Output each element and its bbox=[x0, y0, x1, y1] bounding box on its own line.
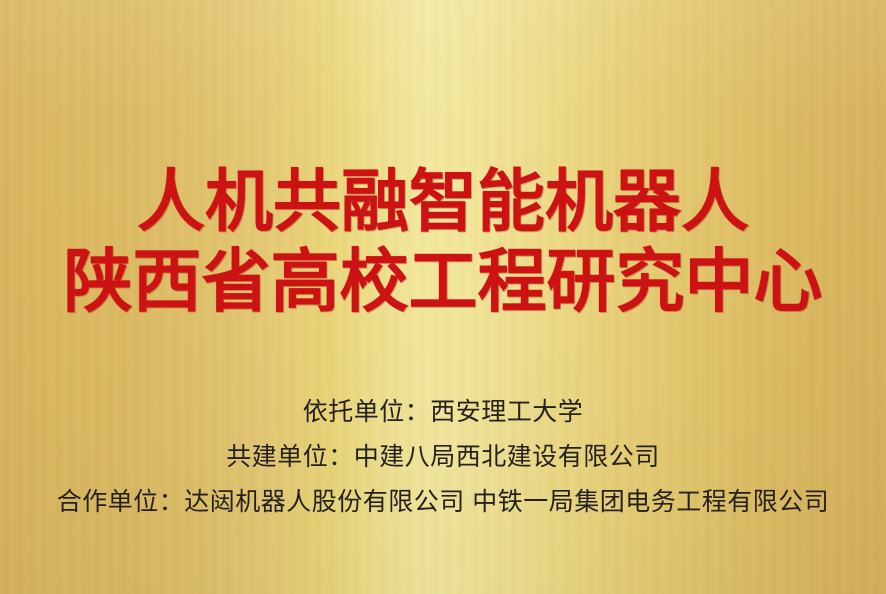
plaque-title-block: 人机共融智能机器人 陕西省高校工程研究中心 bbox=[0, 168, 886, 316]
plaque-subtitle-block: 依托单位：西安理工大学 共建单位：中建八局西北建设有限公司 合作单位：达闼机器人… bbox=[0, 390, 886, 525]
plaque-title-line-2: 陕西省高校工程研究中心 bbox=[0, 247, 886, 316]
plaque-content: 人机共融智能机器人 陕西省高校工程研究中心 依托单位：西安理工大学 共建单位：中… bbox=[0, 0, 886, 594]
cooperating-institutions-line: 合作单位：达闼机器人股份有限公司 中铁一局集团电务工程有限公司 bbox=[0, 480, 886, 525]
gold-plaque: 人机共融智能机器人 陕西省高校工程研究中心 依托单位：西安理工大学 共建单位：中… bbox=[0, 0, 886, 594]
plaque-title-line-1: 人机共融智能机器人 bbox=[0, 168, 886, 236]
co-building-institution-line: 共建单位：中建八局西北建设有限公司 bbox=[0, 435, 886, 480]
supporting-institution-line: 依托单位：西安理工大学 bbox=[0, 390, 886, 435]
